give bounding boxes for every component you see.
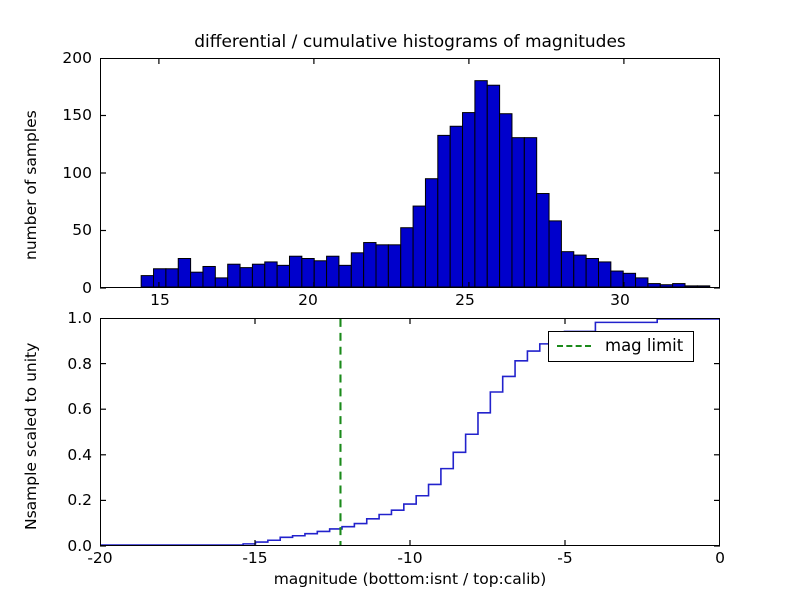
bottom-xtick-0: 0 bbox=[695, 549, 745, 567]
bottom-ytick-0.6: 0.6 bbox=[38, 400, 92, 418]
histogram-bar bbox=[685, 286, 697, 287]
top-xtick-20: 20 bbox=[283, 291, 333, 309]
histogram-bar bbox=[512, 138, 524, 287]
bottom-ytick-1.0: 1.0 bbox=[38, 309, 92, 327]
top-xtick-25: 25 bbox=[440, 291, 490, 309]
bottom-xtick--5: -5 bbox=[540, 549, 590, 567]
histogram-bar bbox=[154, 269, 166, 287]
histogram-bar bbox=[425, 179, 437, 287]
histogram-bar bbox=[524, 138, 536, 287]
histogram-bar bbox=[537, 194, 549, 287]
histogram-bar bbox=[463, 113, 475, 287]
histogram-bar bbox=[561, 252, 573, 287]
histogram-bar bbox=[450, 126, 462, 287]
histogram-bar bbox=[598, 262, 610, 287]
histogram-bar bbox=[327, 256, 339, 287]
bottom-ytick-0.4: 0.4 bbox=[38, 446, 92, 464]
histogram-bar bbox=[289, 256, 301, 287]
histogram-bar bbox=[178, 259, 190, 288]
histogram-bar bbox=[240, 268, 252, 287]
figure-xlabel: magnitude (bottom:isnt / top:calib) bbox=[110, 570, 710, 588]
histogram-bar bbox=[487, 85, 499, 287]
top-ytick-50: 50 bbox=[44, 221, 92, 239]
differential-histogram bbox=[101, 59, 719, 287]
histogram-bar bbox=[500, 114, 512, 287]
histogram-bar bbox=[141, 276, 153, 287]
top-xtick-15: 15 bbox=[135, 291, 185, 309]
histogram-bar bbox=[549, 221, 561, 287]
histogram-bar bbox=[586, 259, 598, 288]
bottom-ytick-0.2: 0.2 bbox=[38, 491, 92, 509]
histogram-bar bbox=[401, 228, 413, 287]
histogram-bar bbox=[228, 264, 240, 287]
histogram-bar bbox=[252, 264, 264, 287]
histogram-bar bbox=[636, 278, 648, 287]
histogram-bar bbox=[314, 261, 326, 287]
legend-box[interactable]: mag limit bbox=[548, 331, 694, 362]
histogram-bar bbox=[697, 286, 709, 287]
top-ytick-100: 100 bbox=[44, 164, 92, 182]
histogram-bar bbox=[574, 255, 586, 287]
histogram-bar bbox=[364, 243, 376, 287]
histogram-bar bbox=[660, 285, 672, 287]
histogram-bar bbox=[623, 273, 635, 287]
histogram-bar bbox=[351, 253, 363, 287]
top-ytick-150: 150 bbox=[44, 106, 92, 124]
top-ytick-0: 0 bbox=[44, 279, 92, 297]
histogram-bar bbox=[376, 245, 388, 287]
bottom-xtick--20: -20 bbox=[75, 549, 125, 567]
bottom-xtick--10: -10 bbox=[385, 549, 435, 567]
histogram-bar bbox=[265, 262, 277, 287]
histogram-bar bbox=[611, 271, 623, 287]
histogram-bar bbox=[166, 269, 178, 287]
histogram-bar bbox=[388, 245, 400, 287]
histogram-bar bbox=[203, 266, 215, 287]
histogram-bar bbox=[339, 265, 351, 287]
chart-title: differential / cumulative histograms of … bbox=[10, 32, 800, 52]
figure-canvas: differential / cumulative histograms of … bbox=[0, 0, 800, 600]
top-xtick-30: 30 bbox=[595, 291, 645, 309]
bottom-xtick--15: -15 bbox=[230, 549, 280, 567]
mag-limit-line-swatch bbox=[557, 345, 591, 347]
bottom-ytick-0.8: 0.8 bbox=[38, 355, 92, 373]
histogram-bar bbox=[191, 272, 203, 287]
histogram-bar bbox=[413, 206, 425, 287]
histogram-bar bbox=[302, 259, 314, 288]
histogram-bar bbox=[215, 278, 227, 287]
histogram-bar bbox=[475, 81, 487, 287]
histogram-bar bbox=[648, 284, 660, 287]
histogram-bar bbox=[438, 135, 450, 287]
histogram-bar bbox=[277, 265, 289, 287]
top-ytick-200: 200 bbox=[44, 49, 92, 67]
histogram-bar bbox=[673, 284, 685, 287]
top-panel-ylabel: number of samples bbox=[22, 110, 40, 260]
legend-label-mag-limit: mag limit bbox=[605, 338, 683, 355]
top-panel-axes bbox=[100, 58, 720, 288]
